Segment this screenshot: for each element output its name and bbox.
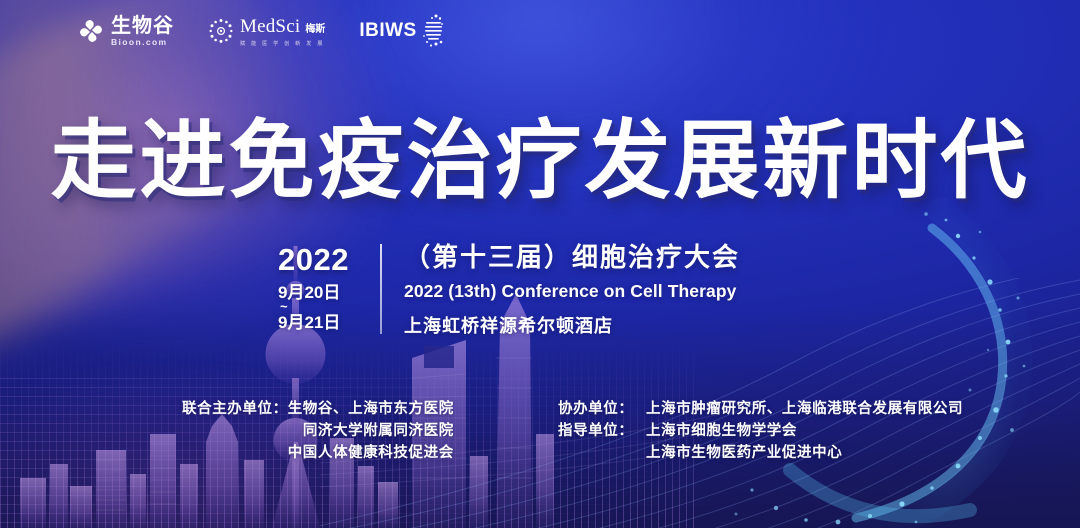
dna-helix-icon: [422, 14, 444, 48]
conference-poster: 生物谷 Bioon.com MedSci: [0, 0, 1080, 528]
vertical-divider: [380, 244, 382, 334]
conference-venue: 上海虹桥祥源希尔顿酒店: [404, 312, 740, 338]
conference-name-cn: （第十三届）细胞治疗大会: [404, 243, 740, 272]
sponsor-logo-bar: 生物谷 Bioon.com MedSci: [78, 14, 444, 48]
logo-bioon[interactable]: 生物谷 Bioon.com: [78, 16, 174, 47]
medsci-cn-name: 梅斯: [305, 20, 325, 35]
conference-year: 2022: [278, 244, 370, 275]
bioon-en-name: Bioon.com: [111, 38, 168, 47]
organizer-label: 联合主办单位：: [182, 398, 288, 420]
conference-name-en: 2022 (13th) Conference on Cell Therapy: [404, 281, 740, 302]
organizer-row: 上海市生物医药产业促进中心: [558, 442, 963, 464]
organizers-left-column: 联合主办单位： 生物谷、上海市东方医院 同济大学附属同济医院 中国人体健康科技促…: [182, 398, 454, 464]
ibiws-name: IBIWS: [359, 20, 416, 42]
organizer-label: 协办单位：: [558, 398, 646, 420]
organizer-value: 中国人体健康科技促进会: [288, 442, 454, 464]
pinwheel-icon: [78, 18, 104, 44]
date-range-tilde: ~: [280, 301, 370, 312]
organizer-value: 上海市生物医药产业促进中心: [646, 442, 842, 464]
conference-info-block: 2022 9月20日 ~ 9月21日 （第十三届）细胞治疗大会 2022 (13…: [278, 242, 740, 338]
conference-date-column: 2022 9月20日 ~ 9月21日: [278, 242, 370, 338]
poster-main-title: 走进免疫治疗发展新时代: [0, 118, 1080, 204]
bioon-cn-name: 生物谷: [111, 16, 174, 36]
conference-date-start: 9月20日: [278, 284, 370, 302]
organizers-right-column: 协办单位： 上海市肿瘤研究所、上海临港联合发展有限公司 指导单位： 上海市细胞生…: [558, 398, 963, 464]
medsci-en-name: MedSci: [240, 16, 300, 38]
organizer-value: 上海市肿瘤研究所、上海临港联合发展有限公司: [646, 398, 963, 420]
organizer-value: 同济大学附属同济医院: [303, 420, 454, 442]
conference-name-column: （第十三届）细胞治疗大会 2022 (13th) Conference on C…: [404, 242, 740, 338]
organizer-value: 上海市细胞生物学学会: [646, 420, 797, 442]
organizer-label: 指导单位：: [558, 420, 646, 442]
conference-date-end: 9月21日: [278, 314, 370, 332]
logo-medsci[interactable]: MedSci 梅斯 赋 能 医 学 创 新 发 展: [208, 16, 325, 47]
organizer-row: 中国人体健康科技促进会: [182, 442, 454, 464]
organizer-row: 指导单位： 上海市细胞生物学学会: [558, 420, 963, 442]
organizer-row: 协办单位： 上海市肿瘤研究所、上海临港联合发展有限公司: [558, 398, 963, 420]
organizer-row: 同济大学附属同济医院: [182, 420, 454, 442]
dotted-circle-icon: [208, 18, 234, 44]
organizer-row: 联合主办单位： 生物谷、上海市东方医院: [182, 398, 454, 420]
organizer-value: 生物谷、上海市东方医院: [288, 398, 454, 420]
medsci-tagline: 赋 能 医 学 创 新 发 展: [240, 40, 325, 47]
logo-ibiws[interactable]: IBIWS: [359, 14, 443, 48]
